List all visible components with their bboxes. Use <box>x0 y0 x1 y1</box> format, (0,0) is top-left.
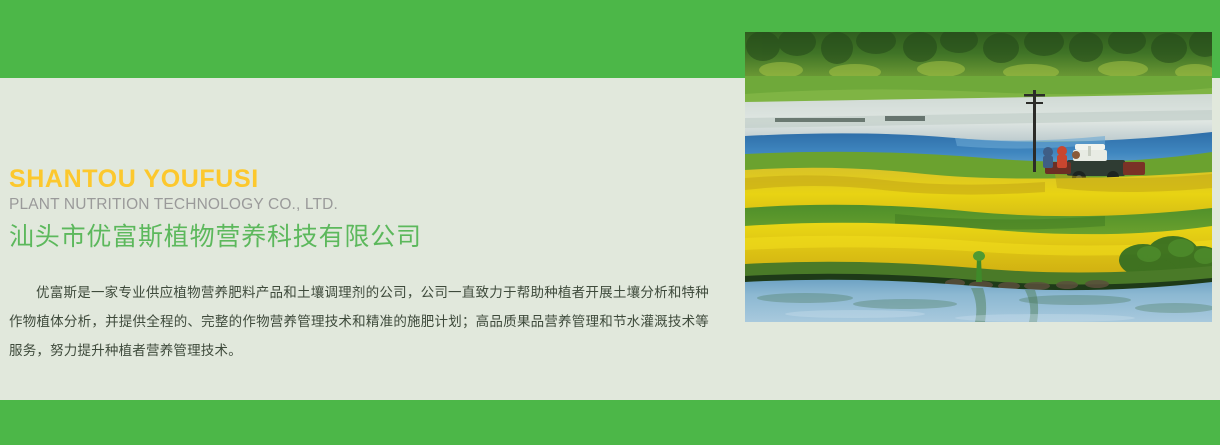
hero-photo <box>745 32 1212 322</box>
page-root: SHANTOU YOUFUSI PLANT NUTRITION TECHNOLO… <box>0 0 1220 445</box>
company-tagline-english: PLANT NUTRITION TECHNOLOGY CO., LTD. <box>9 196 719 213</box>
company-name-chinese: 汕头市优富斯植物营养科技有限公司 <box>9 223 719 252</box>
footer-band <box>0 400 1220 445</box>
content-area: SHANTOU YOUFUSI PLANT NUTRITION TECHNOLO… <box>0 78 735 400</box>
brand-block: SHANTOU YOUFUSI PLANT NUTRITION TECHNOLO… <box>9 166 719 252</box>
company-name-english: SHANTOU YOUFUSI <box>9 166 719 193</box>
company-intro-paragraph: 优富斯是一家专业供应植物营养肥料产品和土壤调理剂的公司，公司一直致力于帮助种植者… <box>9 278 709 365</box>
rice-field-image <box>745 32 1212 322</box>
rice-field-illustration <box>745 32 1212 322</box>
